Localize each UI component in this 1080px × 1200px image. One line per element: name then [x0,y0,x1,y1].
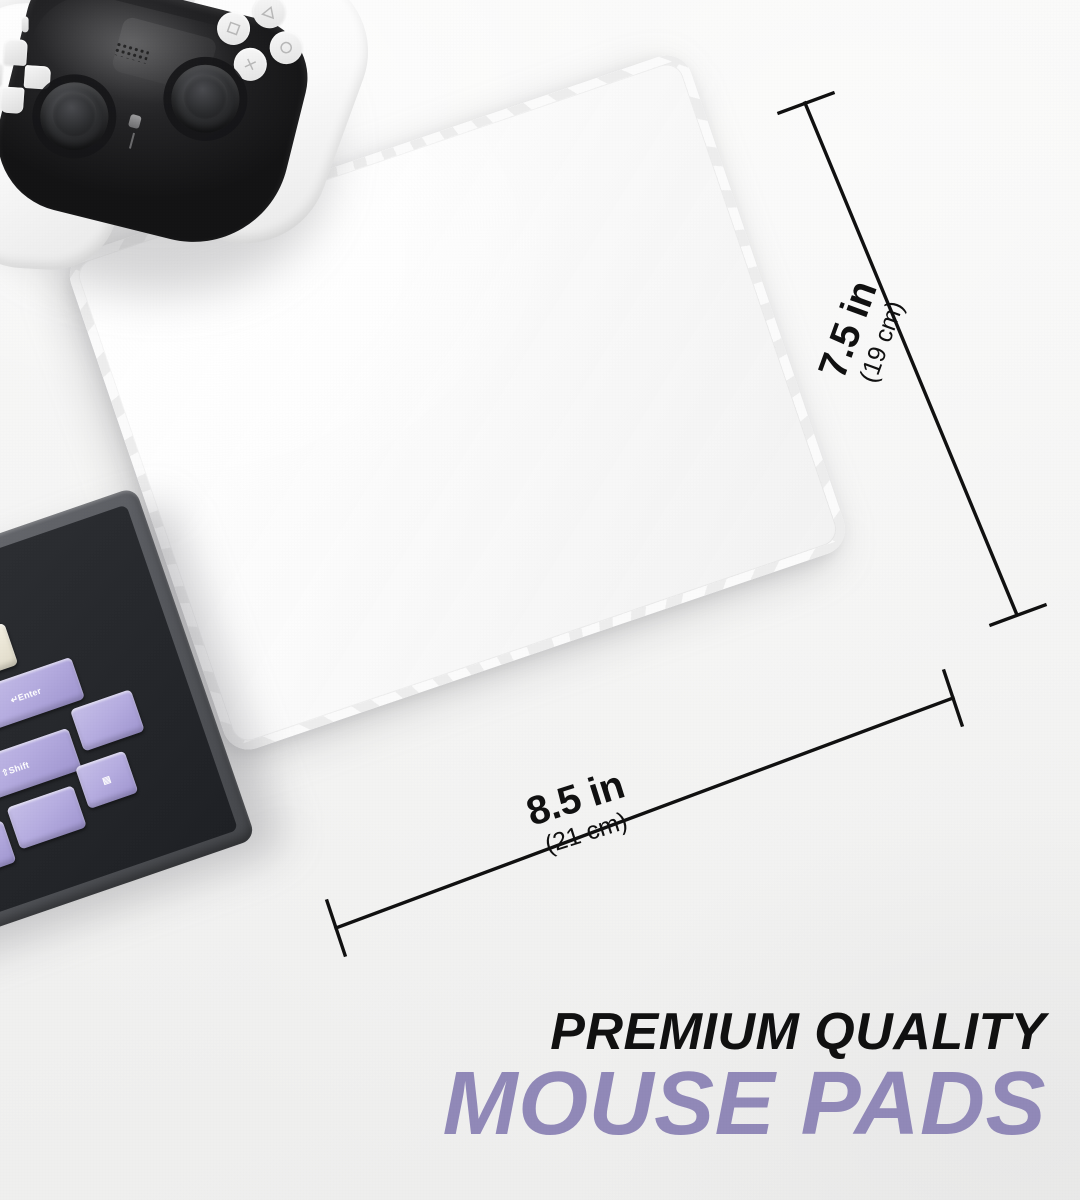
keycap [6,785,87,849]
left-thumbstick-cap [49,89,100,140]
cross-button-icon [229,43,271,85]
square-button-icon [212,7,254,49]
height-value-inches: 7.5 in [812,276,884,383]
ps5-dualsense-controller [0,0,388,362]
width-value-cm: (21 cm) [535,807,637,861]
dpad-up [3,39,28,67]
keycap-legend: ↵Enter [9,685,43,706]
width-dimension-line [327,671,962,955]
headline-block: PREMIUM QUALITY MOUSE PADS [443,1006,1046,1148]
width-value-inches: 8.5 in [522,765,629,833]
keycap: ▤ [75,751,138,810]
product-photo-scene: +=←Backspace{[}]|\:;"'↵Enter?/⇧ShiftAlt▤… [0,0,1080,1200]
height-value-cm: (19 cm) [854,291,911,393]
keycap: ↵Enter [0,657,85,734]
right-thumbstick-cap [180,71,231,122]
dpad-right [24,65,52,90]
width-dimension-label: 8.5 in (21 cm) [522,765,637,861]
headline-line-2: MOUSE PADS [443,1060,1046,1148]
dpad-down [0,86,25,114]
dpad-left [0,62,3,87]
keycap-legend: |\ [0,635,14,674]
keycap-legend: ⇧Shift [0,759,31,779]
keycap-legend: ▤ [101,773,113,786]
triangle-button-icon [248,0,290,33]
create-button [22,16,29,32]
headline-line-1: PREMIUM QUALITY [443,1006,1046,1058]
height-dimension-label: 7.5 in (19 cm) [812,276,911,393]
